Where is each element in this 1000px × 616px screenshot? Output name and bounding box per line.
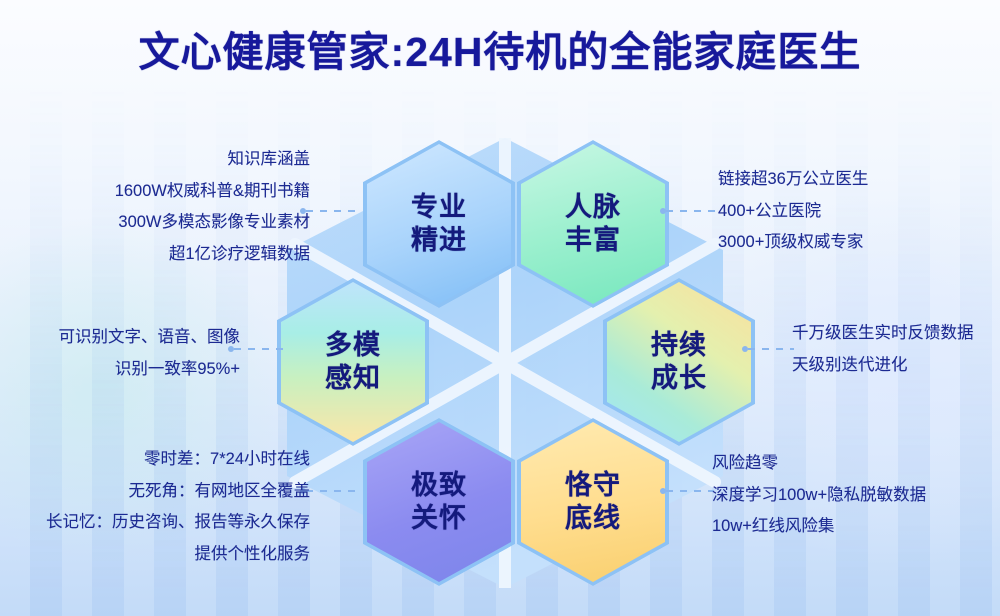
callout-line: 千万级医生实时反馈数据 [792,318,974,350]
callout-care: 零时差：7*24小时在线 无死角：有网地区全覆盖 长记忆：历史咨询、报告等永久保… [46,444,310,571]
connector-dash [666,490,714,492]
callout-line: 无死角：有网地区全覆盖 [46,476,310,508]
connector-baseline [660,486,714,496]
connector-network [660,206,718,216]
callout-line: 400+公立医院 [718,196,868,228]
callout-line: 10w+红线风险集 [712,511,926,543]
hexagon-label-network: 人脉 丰富 [565,191,621,257]
hexagon-label-care: 极致 关怀 [411,469,467,535]
callout-line: 可识别文字、语音、图像 [59,322,241,354]
callout-line: 零时差：7*24小时在线 [46,444,310,476]
hexagon-label-baseline: 恪守 底线 [565,469,621,535]
callout-line: 链接超36万公立医生 [718,164,868,196]
callout-professional: 知识库涵盖 1600W权威科普&期刊书籍 300W多模态影像专业素材 超1亿诊疗… [115,144,310,271]
callout-baseline: 风险趋零 深度学习100w+隐私脱敏数据 10w+红线风险集 [712,448,926,543]
callout-network: 链接超36万公立医生 400+公立医院 3000+顶级权威专家 [718,164,868,259]
infographic-canvas: 文心健康管家:24H待机的全能家庭医生 [0,0,1000,616]
callout-line: 超1亿诊疗逻辑数据 [115,239,310,271]
connector-growth [742,344,794,354]
callout-line: 风险趋零 [712,448,926,480]
hexagon-label-multimodal: 多模 感知 [325,329,381,395]
callout-line: 长记忆：历史咨询、报告等永久保存 [46,507,310,539]
callout-line: 提供个性化服务 [46,539,310,571]
callout-line: 天级别迭代进化 [792,350,974,382]
hexagon-cluster: 专业 精进 人脉 丰富 多模 感知 持续 成长 极致 关怀 恪守 底线 [255,128,755,598]
connector-dash [748,348,794,350]
callout-line: 300W多模态影像专业素材 [115,207,310,239]
callout-line: 识别一致率95%+ [59,354,241,386]
page-title: 文心健康管家:24H待机的全能家庭医生 [0,18,1000,78]
callout-growth: 千万级医生实时反馈数据 天级别迭代进化 [792,318,974,381]
callout-line: 知识库涵盖 [115,144,310,176]
callout-multimodal: 可识别文字、语音、图像 识别一致率95%+ [59,322,241,385]
callout-line: 1600W权威科普&期刊书籍 [115,176,310,208]
connector-dash [666,210,718,212]
connector-dash [234,348,284,350]
connector-dash [306,490,358,492]
callout-line: 深度学习100w+隐私脱敏数据 [712,480,926,512]
connector-dash [306,210,360,212]
callout-line: 3000+顶级权威专家 [718,227,868,259]
hexagon-label-professional: 专业 精进 [411,191,467,257]
hexagon-label-growth: 持续 成长 [651,329,707,395]
